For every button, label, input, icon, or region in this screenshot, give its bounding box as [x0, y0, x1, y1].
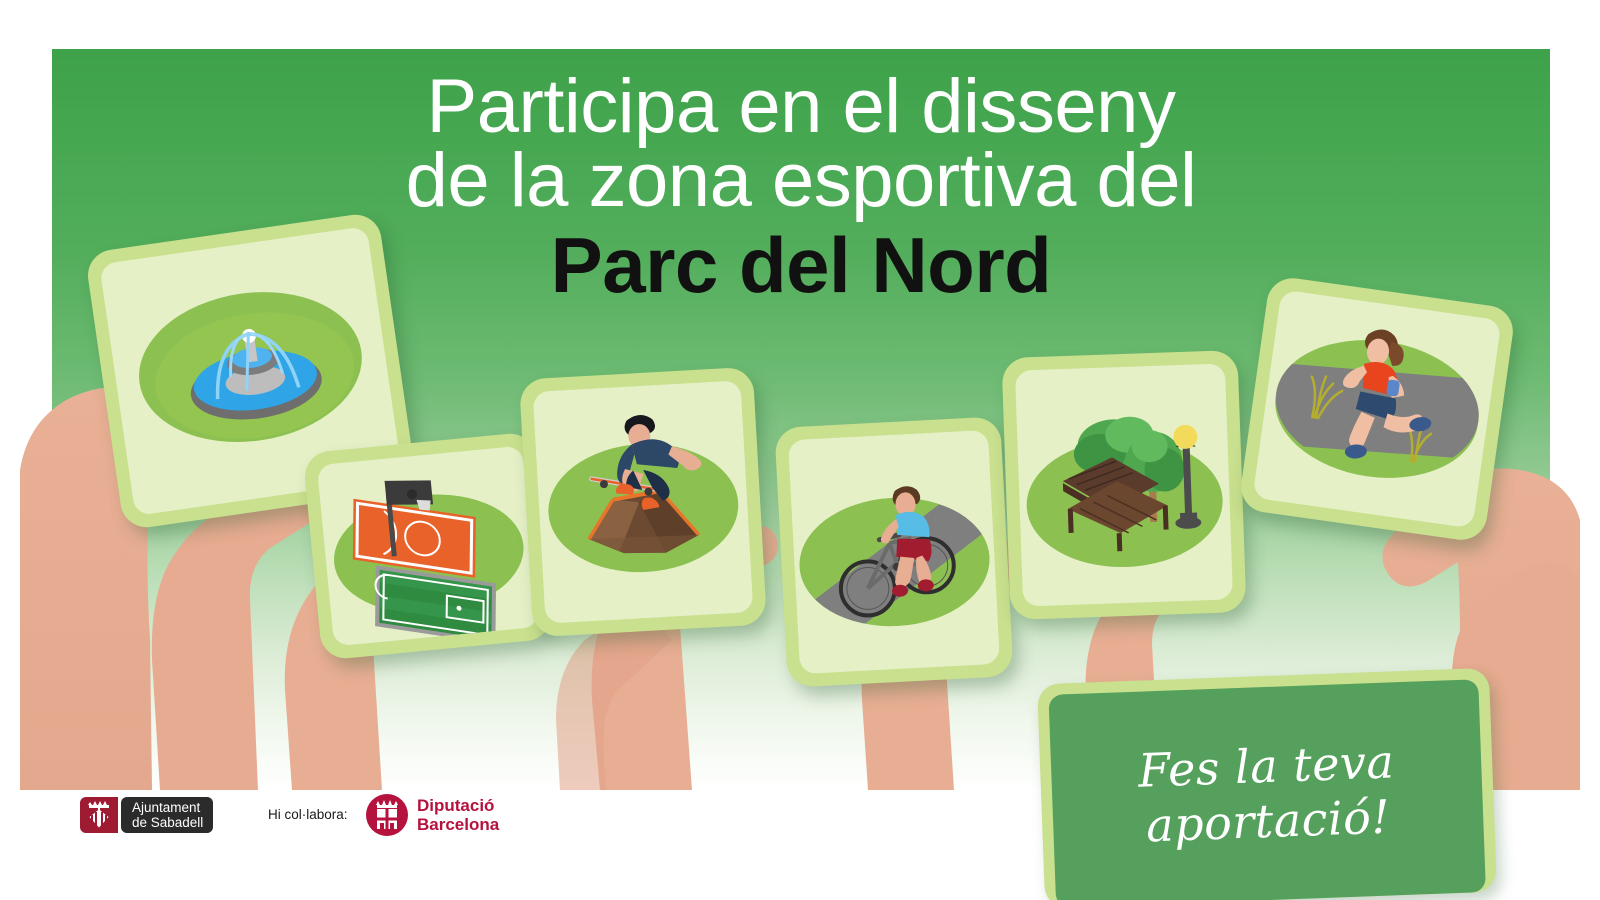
runner-icon	[1252, 290, 1501, 529]
footer-logos: Ajuntament de Sabadell Hi col·labora: Di…	[0, 790, 1600, 870]
card-runner-face	[1252, 290, 1501, 529]
card-bike[interactable]	[774, 416, 1013, 687]
ajuntament-line-1: Ajuntament	[132, 800, 203, 815]
cta-line-1: Fes la teva	[1137, 735, 1395, 798]
card-runner[interactable]	[1238, 275, 1516, 543]
diputacio-line-2: Barcelona	[417, 815, 499, 834]
park-bench-icon	[1015, 363, 1233, 606]
ajuntament-wordmark: Ajuntament de Sabadell	[121, 797, 213, 833]
cyclist-icon	[788, 430, 1000, 674]
logo-ajuntament-sabadell[interactable]: Ajuntament de Sabadell	[80, 797, 213, 833]
diputacio-wordmark: Diputació Barcelona	[417, 796, 499, 834]
card-sports-court-face	[317, 446, 539, 647]
card-sports-court[interactable]	[303, 431, 554, 660]
diputacio-line-1: Diputació	[417, 796, 494, 815]
poster-canvas: Participa en el disseny de la zona espor…	[0, 0, 1600, 900]
logo-diputacio-barcelona[interactable]: Diputació Barcelona	[366, 794, 499, 836]
card-bench-face	[1015, 363, 1233, 606]
card-skate-face	[533, 380, 754, 623]
card-bench[interactable]	[1002, 350, 1247, 620]
skateboard-ramp-icon	[533, 380, 754, 623]
collaborate-label: Hi col·labora:	[268, 807, 348, 822]
ajuntament-line-2: de Sabadell	[132, 815, 203, 830]
sports-court-icon	[317, 446, 539, 647]
diputacio-crest-icon	[366, 794, 408, 836]
card-skate[interactable]	[519, 367, 767, 638]
card-bike-face	[788, 430, 1000, 674]
sabadell-crest-icon	[80, 797, 118, 833]
